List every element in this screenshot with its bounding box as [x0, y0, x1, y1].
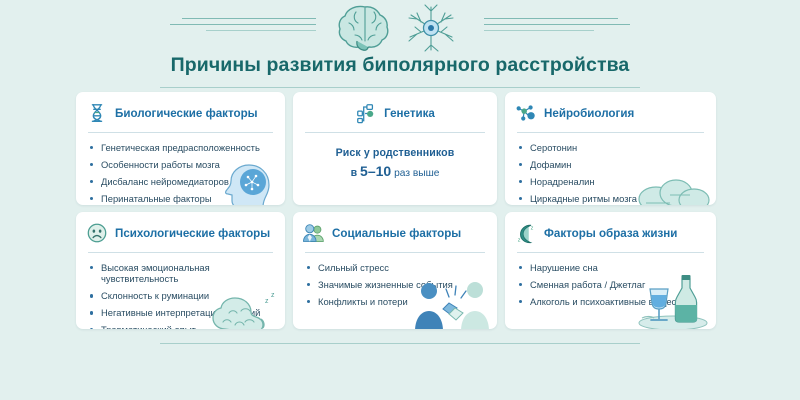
list-item: Норадреналин — [519, 176, 706, 187]
list-item: Дофамин — [519, 159, 706, 170]
dna-helix-icon — [86, 102, 108, 124]
divider-bottom — [160, 343, 640, 344]
list-item: Генетическая предрасположенность — [90, 142, 275, 153]
decorative-lines-left — [156, 18, 316, 42]
card-genetics[interactable]: Генетика Риск у родственников в 5–10 раз… — [293, 92, 497, 205]
card-title: Факторы образа жизни — [544, 227, 677, 240]
card-header: Генетика — [293, 92, 497, 126]
page-title: Причины развития биполярного расстройств… — [0, 54, 800, 77]
card-psychological[interactable]: Психологические факторы Высокая эмоциона… — [76, 212, 285, 329]
list-item: Нарушение сна — [519, 262, 706, 273]
two-people-icon — [303, 222, 325, 244]
card-header: Психологические факторы — [76, 212, 285, 246]
svg-text:z: z — [518, 237, 521, 243]
list-item: Сменная работа / Джетлаг — [519, 279, 706, 290]
genetics-stat: Риск у родственников в 5–10 раз выше — [293, 133, 497, 179]
list-item: Негативные интерпретации событий — [90, 307, 275, 318]
divider-top — [160, 87, 640, 88]
bullet-list: Нарушение сна Сменная работа / Джетлаг А… — [505, 253, 716, 307]
molecule-icon — [515, 102, 537, 124]
card-biological[interactable]: Биологические факторы Генетическая предр… — [76, 92, 285, 205]
bullet-list: Высокая эмоциональная чувствительность С… — [76, 253, 285, 329]
family-tree-icon — [355, 102, 377, 124]
cards-row-bottom: Психологические факторы Высокая эмоциона… — [76, 212, 724, 329]
cards-row-top: Биологические факторы Генетическая предр… — [76, 92, 724, 205]
bullet-list: Серотонин Дофамин Норадреналин Циркадные… — [505, 133, 716, 204]
stat-value: 5–10 — [360, 163, 391, 179]
card-title: Нейробиология — [544, 107, 634, 120]
card-title: Генетика — [384, 107, 435, 120]
hero-illustration — [305, 2, 495, 54]
card-header: Социальные факторы — [293, 212, 497, 246]
list-item: Конфликты и потери — [307, 296, 487, 307]
list-item: Дисбаланс нейромедиаторов — [90, 176, 275, 187]
list-item: Алкоголь и психоактивные вещества — [519, 296, 706, 307]
bullet-list: Генетическая предрасположенность Особенн… — [76, 133, 285, 204]
card-title: Биологические факторы — [115, 107, 258, 120]
card-title: Социальные факторы — [332, 227, 461, 240]
list-item: Особенности работы мозга — [90, 159, 275, 170]
list-item: Значимые жизненные события — [307, 279, 487, 290]
card-neurobiology[interactable]: Нейробиология Серотонин Дофамин Норадрен… — [505, 92, 716, 205]
list-item: Высокая эмоциональная чувствительность — [90, 262, 275, 285]
brain-illustration — [335, 3, 395, 53]
crescent-moon-icon: zz — [515, 222, 537, 244]
card-social[interactable]: Социальные факторы Сильный стресс Значим… — [293, 212, 497, 329]
list-item: Склонность к руминации — [90, 290, 275, 301]
list-item: Сильный стресс — [307, 262, 487, 273]
card-header: Нейробиология — [505, 92, 716, 126]
stat-suffix: раз выше — [394, 168, 439, 179]
stat-prefix: в — [351, 167, 358, 179]
svg-text:z: z — [531, 225, 534, 231]
card-title: Психологические факторы — [115, 227, 270, 240]
bullet-list: Сильный стресс Значимые жизненные событи… — [293, 253, 497, 307]
decorative-lines-right — [484, 18, 644, 42]
list-item: Травматический опыт — [90, 324, 275, 329]
header: Причины развития биполярного расстройств… — [0, 0, 800, 86]
stat-caption: Риск у родственников — [303, 147, 487, 159]
list-item: Перинатальные факторы — [90, 193, 275, 204]
card-lifestyle[interactable]: zz Факторы образа жизни Нарушение сна См… — [505, 212, 716, 329]
infographic-page: Причины развития биполярного расстройств… — [0, 0, 800, 400]
stat-value-line: в 5–10 раз выше — [303, 163, 487, 179]
list-item: Серотонин — [519, 142, 706, 153]
list-item: Циркадные ритмы мозга — [519, 193, 706, 204]
cards-grid: Биологические факторы Генетическая предр… — [76, 92, 724, 329]
sad-face-icon — [86, 222, 108, 244]
card-header: Биологические факторы — [76, 92, 285, 126]
card-header: zz Факторы образа жизни — [505, 212, 716, 246]
neuron-illustration — [397, 3, 465, 53]
